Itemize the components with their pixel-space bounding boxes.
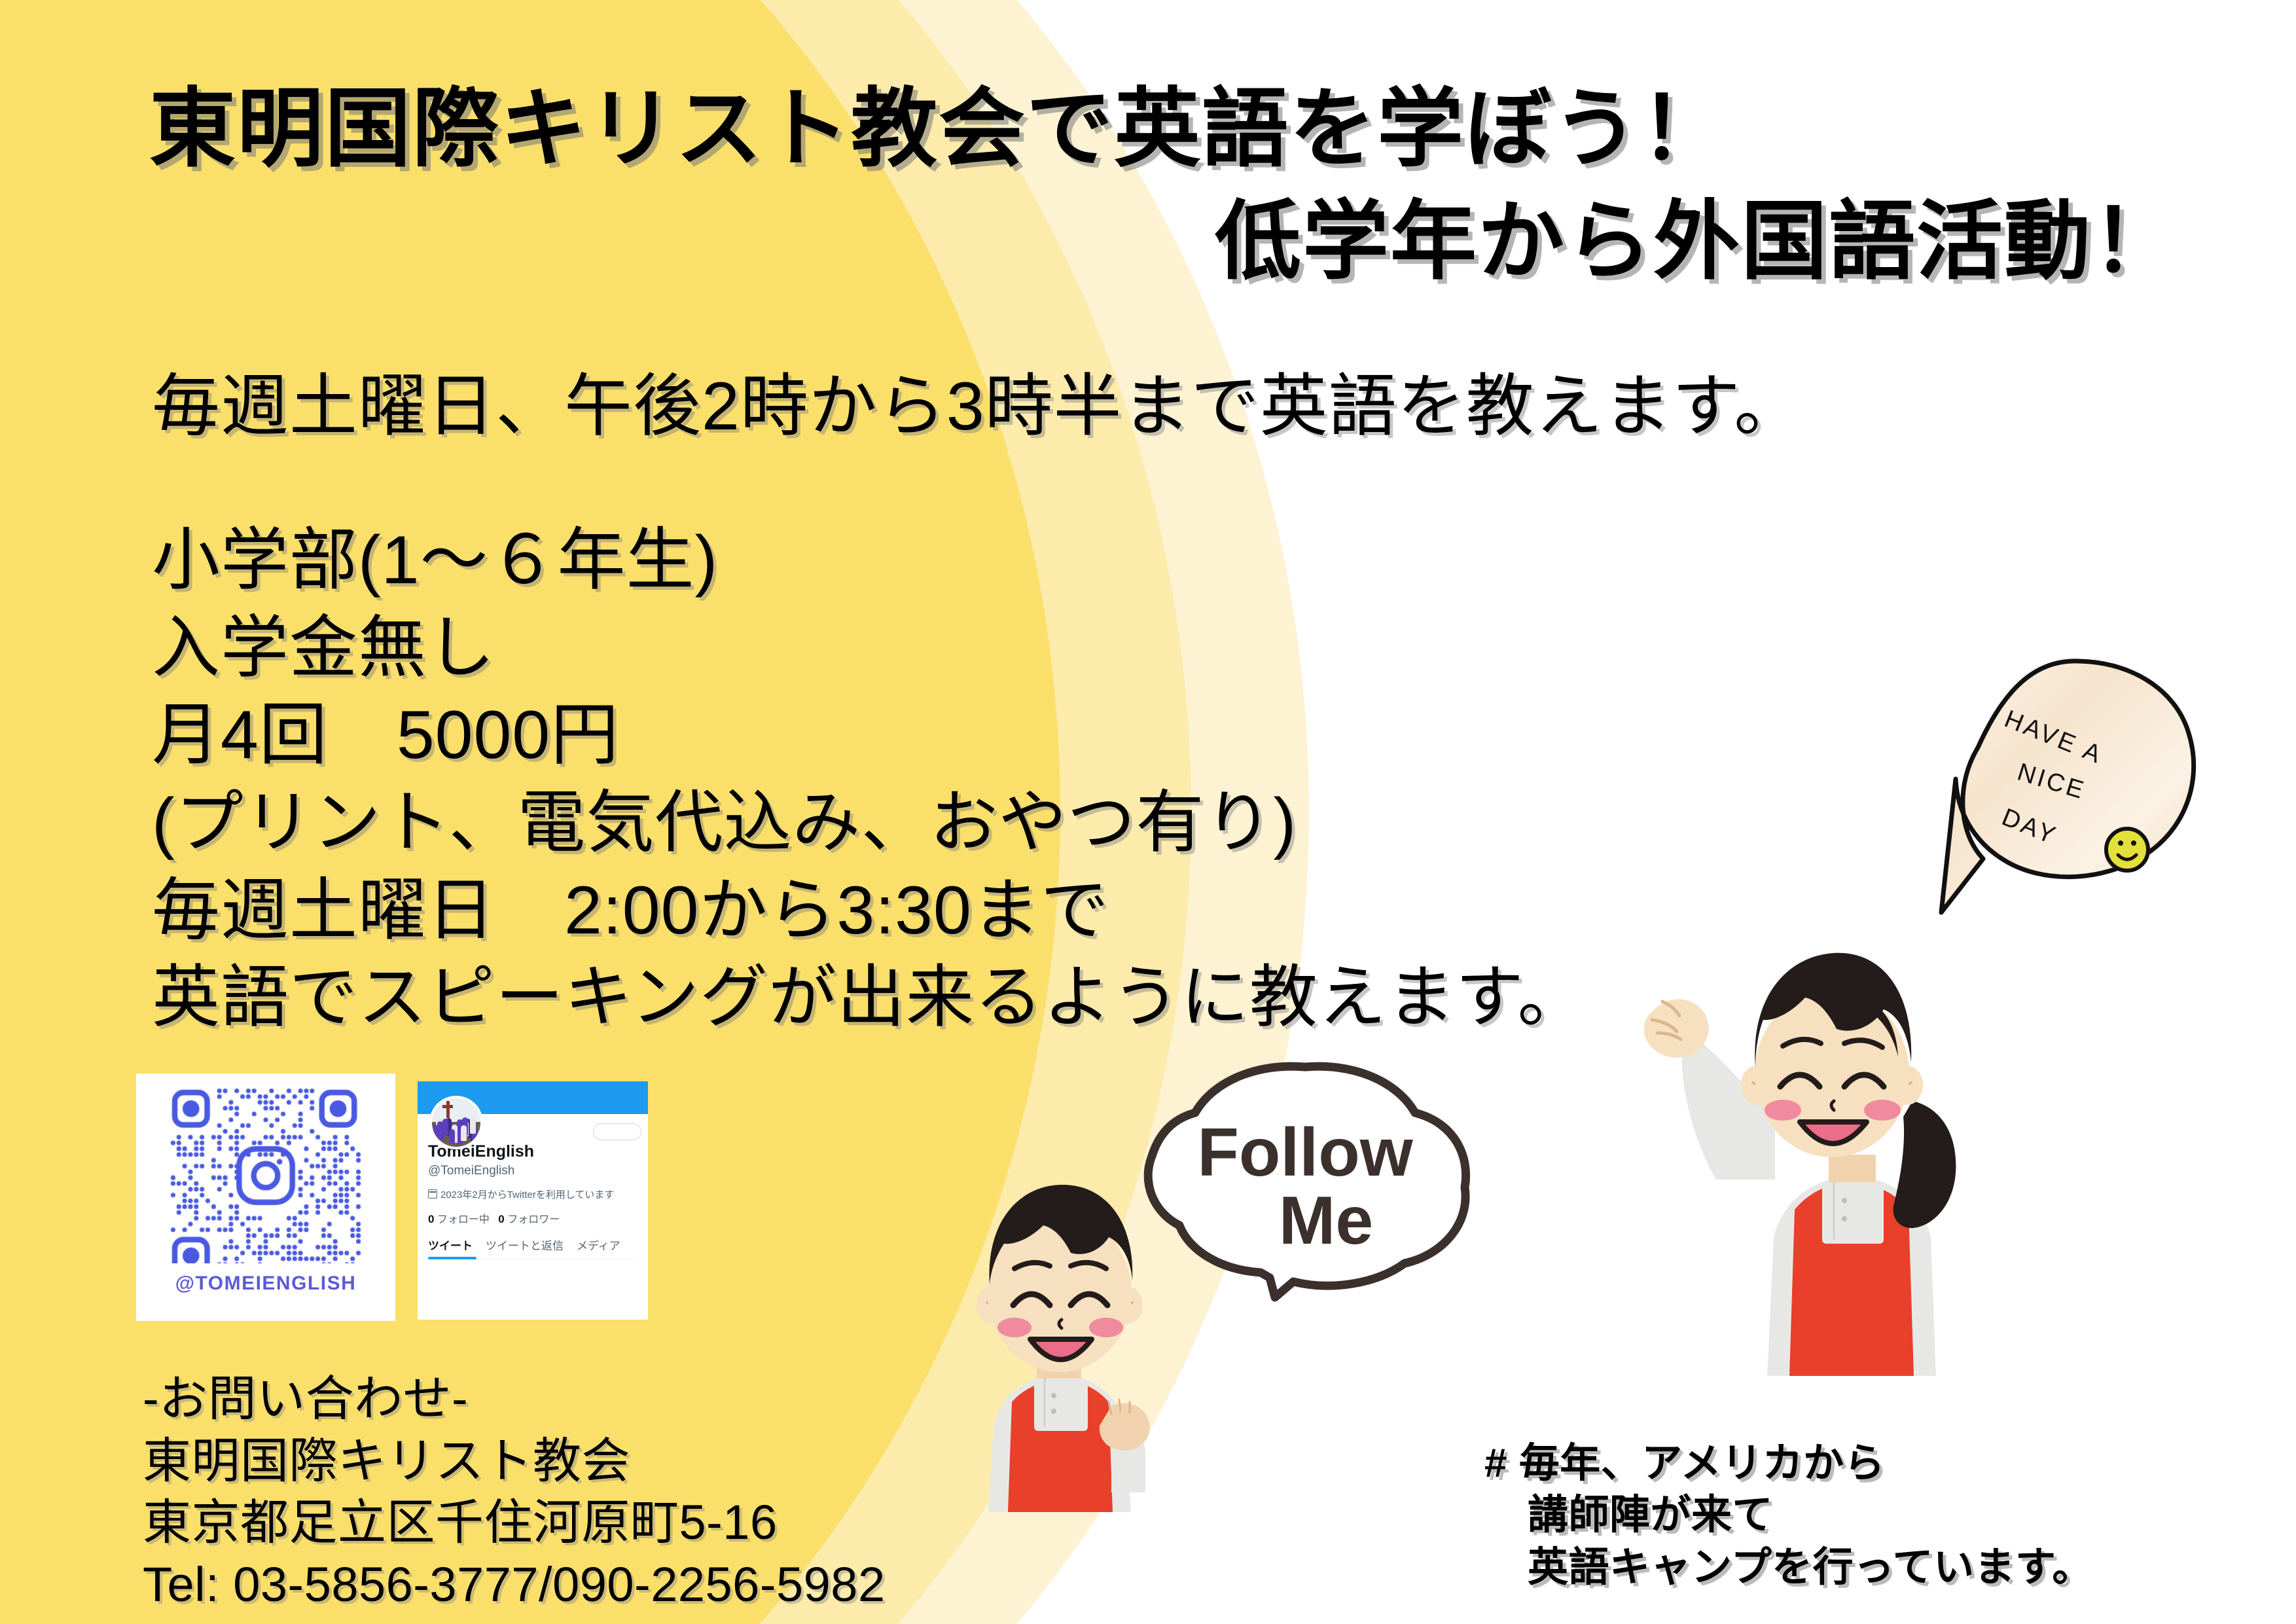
twitter-joined-row: 2023年2月からTwitterを利用しています bbox=[428, 1187, 639, 1201]
smiley-icon bbox=[2106, 829, 2148, 871]
contact-heading: -お問い合わせ- bbox=[143, 1368, 886, 1430]
detail-line-goal: 英語でスピーキングが出来るように教えます。 bbox=[152, 954, 1586, 1042]
follow-bubble-line-1: Follow bbox=[1197, 1115, 1413, 1191]
follow-bubble-line-2: Me bbox=[1279, 1183, 1373, 1259]
twitter-handle: @TomeiEnglish bbox=[428, 1164, 639, 1178]
hash-icon: # bbox=[1484, 1441, 1507, 1486]
instagram-qr-card[interactable]: @TOMEIENGLISH bbox=[136, 1074, 395, 1321]
note-line-3: 英語キャンプを行っています。 bbox=[1484, 1542, 2093, 1593]
contact-org: 東明国際キリスト教会 bbox=[143, 1430, 886, 1492]
cheering-girl-illustration bbox=[1611, 905, 1978, 1376]
detail-line-price: 月4回 5000円 bbox=[152, 692, 1586, 780]
course-details-block: 小学部(1～６年生) 入学金無し 月4回 5000円 (プリント、電気代込み、お… bbox=[152, 517, 1586, 1042]
headline-line-2: 低学年から外国語活動！ bbox=[0, 190, 2179, 293]
lead-sentence: 毎週土曜日、午後2時から3時半まで英語を教えます。 bbox=[152, 364, 1803, 449]
followers-count: 0 bbox=[498, 1213, 504, 1225]
tab-tweets[interactable]: ツイート bbox=[428, 1236, 473, 1253]
camp-note-block: # 毎年、アメリカから 講師陣が来て 英語キャンプを行っています。 bbox=[1484, 1437, 2093, 1593]
calendar-icon bbox=[428, 1189, 437, 1199]
detail-line-grade: 小学部(1～６年生) bbox=[152, 517, 1586, 605]
following-label: フォロー中 bbox=[437, 1214, 490, 1225]
contact-address: 東京都足立区千住河原町5-16 bbox=[143, 1492, 886, 1554]
note-text-1: 毎年、アメリカから bbox=[1519, 1441, 1885, 1486]
headline-line-1: 東明国際キリスト教会で英語を学ぼう！ bbox=[0, 77, 2179, 181]
tab-tweets-replies[interactable]: ツイートと返信 bbox=[486, 1236, 564, 1253]
note-line-2: 講師陣が来て bbox=[1484, 1489, 2093, 1541]
follow-button[interactable] bbox=[593, 1123, 641, 1140]
followers-label: フォロワー bbox=[507, 1214, 560, 1225]
twitter-counts: 0 フォロー中 0 フォロワー bbox=[428, 1210, 639, 1226]
detail-line-no-entryfee: 入学金無し bbox=[152, 605, 1586, 693]
contact-tel: Tel: 03-5856-3777/090-2256-5982 bbox=[143, 1554, 886, 1616]
tab-media[interactable]: メディア bbox=[577, 1236, 620, 1253]
avatar bbox=[429, 1096, 483, 1149]
page-title: 東明国際キリスト教会で英語を学ぼう！ 低学年から外国語活動！ bbox=[0, 77, 2179, 294]
twitter-profile-card[interactable]: TomeiEnglish @TomeiEnglish 2023年2月からTwit… bbox=[418, 1081, 648, 1320]
note-line-1: # 毎年、アメリカから bbox=[1484, 1437, 2093, 1489]
instagram-handle: @TOMEIENGLISH bbox=[175, 1272, 357, 1295]
have-a-nice-day-bubble: HAVE A NICE DAY bbox=[1932, 648, 2220, 923]
twitter-joined-text: 2023年2月からTwitterを利用しています bbox=[440, 1187, 614, 1201]
qr-code-icon bbox=[170, 1088, 361, 1263]
following-count: 0 bbox=[428, 1213, 434, 1225]
active-tab-indicator bbox=[428, 1257, 476, 1259]
detail-line-included: (プリント、電気代込み、おやつ有り) bbox=[152, 780, 1586, 867]
contact-block: -お問い合わせ- 東明国際キリスト教会 東京都足立区千住河原町5-16 Tel:… bbox=[143, 1368, 886, 1616]
twitter-tabs: ツイート ツイートと返信 メディア bbox=[428, 1236, 639, 1259]
poster-canvas: 東明国際キリスト教会で英語を学ぼう！ 低学年から外国語活動！ 毎週土曜日、午後2… bbox=[0, 0, 2296, 1624]
detail-line-schedule: 毎週土曜日 2:00から3:30まで bbox=[152, 867, 1586, 955]
follow-me-speech-bubble: Follow Me bbox=[1130, 1047, 1483, 1322]
